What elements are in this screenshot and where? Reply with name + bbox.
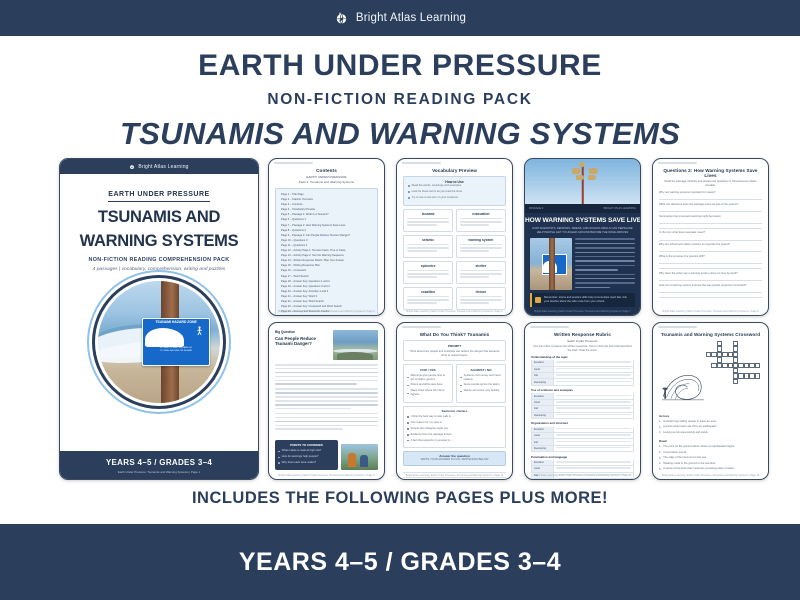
page-footer: Bright Atlas Learning | Earth Under Pres… [269,310,384,313]
list-item: I think the best way to stay safe is ... [407,415,502,419]
rubric-instruction: Use this rubric to assess the written re… [531,345,634,353]
grade-banner: YEARS 4–5 / GRADES 3–4 [0,524,800,600]
think-for-heading: FOR / YES [407,368,449,372]
list-item: 3.The edge of the land next to the sea. [659,456,762,460]
hero-series: EARTH UNDER PRESSURE [0,50,800,82]
bigq-eyebrow: Big Question [275,330,329,334]
list-item: How do warnings help people? [278,455,335,459]
table-row: Developing [531,413,634,419]
list-item: Page 4 – Vocabulary Preview [281,208,372,211]
sign-top-text: TSUNAMI HAZARD ZONE [143,320,209,324]
list-item: What makes a coast at high risk? [278,449,335,453]
thumbnail-big-question[interactable]: Big Question Can People Reduce Tsunami D… [268,322,385,480]
bigq-photo-2 [341,444,378,470]
question-item: What is the purpose of a practice drill? [659,255,762,269]
list-item: Page 12 – Activity Page 1: Tsunami Facts… [281,249,372,252]
cover-brand-name: Bright Atlas Learning [138,164,188,170]
hero-topic: TSUNAMIS AND WARNING SYSTEMS [0,118,800,151]
table-row: Developing [531,446,634,452]
article-note-text: Remember: sirens and practice drills hel… [544,296,632,304]
bigq-title-line2: Tsunami Danger? [275,341,329,346]
list-item: Sirens and drills save lives. [407,383,449,387]
brand-name: Bright Atlas Learning [356,12,466,24]
list-item: Page 11 – Questions 4 [281,244,372,247]
think-prompt: PROMPT Think about how people and scient… [403,340,506,361]
contents-list: Page 1 – Title Page Page 2 – Teacher Ove… [275,188,378,316]
cover-title-line1: TSUNAMIS AND [70,209,248,226]
think-for-box: FOR / YES Warnings give people time to g… [403,364,453,403]
rubric-group: Organisation and structure Excellent Goo… [531,421,634,452]
cover-brand-bar: Bright Atlas Learning [60,159,258,174]
crossword-grid[interactable] [706,341,760,384]
article-note: Remember: sirens and practice drills hel… [530,293,635,306]
vocab-card: shelter [456,261,506,285]
thumbnail-vocabulary-preview[interactable]: Vocabulary Preview How to Use Read the w… [396,158,513,316]
globe-compass-icon [129,164,135,170]
list-item: Page 13 – Activity Page 2: Sort the Warn… [281,254,372,257]
page-footer: Bright Atlas Learning | Earth Under Pres… [525,307,640,316]
page-footer: Bright Atlas Learning | Earth Under Pres… [397,310,512,313]
article-eyebrow-left: PASSAGE 2 [529,207,543,210]
think-prompt-text: Think about how people and scientists ca… [407,350,502,358]
list-item: Look for these terms as you read the tex… [408,190,501,194]
page-gallery: Bright Atlas Learning EARTH UNDER PRESSU… [0,155,800,485]
list-item: Page 17 – Word Search [281,275,372,278]
siren-photo [525,159,640,204]
thumbnail-written-response-rubric[interactable]: Written Response Rubric Earth Under Pres… [524,322,641,480]
list-item: 1.A hazard sign telling people to leave … [659,420,762,424]
article-dek: HOW SCIENTISTS, SENSORS, SIRENS, AND SCH… [531,227,634,235]
list-item: Try to use a new term in your sentence. [408,196,501,200]
list-item: 2.A great ocean wave set off by an earth… [659,425,762,429]
think-against-heading: AGAINST / NO [460,368,502,372]
page-footer: Bright Atlas Learning | Earth Under Pres… [525,474,640,477]
list-item: Page 2 – Teacher Overview [281,198,372,201]
question-item: Why are school and safety routines so im… [659,243,762,252]
list-item: A fact that supports my answer is ... [407,439,502,443]
list-item: Page 8 – Questions 2 [281,229,372,232]
thumbnail-passage-warning-systems[interactable]: PASSAGE 2 BRIGHT ATLAS LEARNING HOW WARN… [524,158,641,316]
crossword-down-heading: Down [659,439,762,443]
think-answer-prompt: WRITE YOUR ANSWER IN FULL SENTENCES BELO… [407,458,502,462]
list-item: Evidence from the passage shows ... [407,433,502,437]
list-item: 5.A series of low lines that measures a … [659,467,762,471]
list-item: Page 3 – Contents [281,203,372,206]
list-item: Page 1 – Title Page [281,193,372,196]
hero-kind: NON-FICTION READING PACK [0,91,800,109]
cover-thumbnail[interactable]: Bright Atlas Learning EARTH UNDER PRESSU… [59,158,259,480]
contents-title: Contents [275,168,378,173]
vocab-card-grid: tsunami evacuation seismic warning syste… [403,209,506,310]
article-headline: HOW WARNING SYSTEMS SAVE LIVES [525,217,640,224]
list-item: Page 20 – Answer Key: Activities 1 and 2 [281,290,372,293]
list-item: 3.Leaving a risk area quickly and safely… [659,431,762,435]
question-item: How can a warning system improve the way… [659,284,762,298]
cover-kind: NON-FICTION READING COMPREHENSION PACK [70,257,248,263]
think-checklist: Sentence starters I think the best way t… [403,406,506,448]
cover-grade-band: YEARS 4–5 / GRADES 3–4 Earth Under Press… [60,451,258,479]
list-item: Some people ignore the alarm. [460,383,502,387]
question-item: Why does the writer say a warning system… [659,272,762,281]
cover-grade-band-text: YEARS 4–5 / GRADES 3–4 [60,458,258,467]
questions-title: Questions 2: How Warning Systems Save Li… [659,168,762,178]
list-item: Maps show where the risk is highest. [407,389,449,397]
list-item: 2.A loud alarm sound. [659,451,762,455]
article-eyebrow-right: BRIGHT ATLAS LEARNING [604,207,636,210]
wave-illustration-icon [661,365,705,405]
list-item: Page 15 – Writing Response Plan [281,264,372,267]
cover-photo-circle: TSUNAMI HAZARD ZONE IN CASE OF EART [95,278,223,406]
list-item: Page 9 – Passage 3: Can People Reduce Ts… [281,234,372,237]
sign-bottom-line2: TO HIGH GROUND OR INLAND [143,350,209,353]
list-item: Page 10 – Questions 3 [281,239,372,242]
list-item: 1.The point on the ground above where an… [659,445,762,449]
question-item: What two detectors does the passage name… [659,203,762,212]
thumbnail-questions-2[interactable]: Questions 2: How Warning Systems Save Li… [652,158,769,316]
table-row: Developing [531,379,634,385]
cover-title-line2: WARNING SYSTEMS [70,233,248,250]
list-item: Systems cost money and need upkeep. [460,374,502,382]
vocab-card: coastline [403,287,453,311]
list-item: Page 22 – Answer Key: Word Search [281,300,372,303]
tsunami-hazard-sign: TSUNAMI HAZARD ZONE IN CASE OF EART [142,318,210,367]
page-footer: Bright Atlas Learning | Earth Under Pres… [269,474,384,477]
list-item: One reason for my view is ... [407,421,502,425]
list-item: Waves can arrive very quickly. [460,389,502,393]
list-item: Page 18 – Answer Key: Questions 1 and 2 [281,280,372,283]
article-eyebrow: PASSAGE 2 BRIGHT ATLAS LEARNING [525,204,640,213]
list-item: Page 16 – Crossword [281,269,372,272]
think-checklist-heading: Sentence starters [407,409,502,413]
vocab-note: How to Use Read the words, meanings and … [403,176,506,206]
list-item: Page 21 – Answer Key: Word 3 [281,295,372,298]
thumbnail-what-do-you-think[interactable]: What Do You Think? Tsunamis PROMPT Think… [396,322,513,480]
cover-description: 4 passages | vocabulary, comprehension, … [70,267,248,272]
cover-series: EARTH UNDER PRESSURE [108,191,209,202]
bigq-points-heading: POINTS TO CONSIDER [278,443,335,447]
contents-subtitle2: Pack 2: Tsunamis and Warning Systems [275,180,378,184]
think-answer-bar: Answer the question WRITE YOUR ANSWER IN… [403,451,506,466]
list-item: Page 23 – Answer Key: Crossword and Word… [281,305,372,308]
rubric-group: Understanding of the topic Excellent Goo… [531,355,634,386]
question-item: Why are warning systems important for co… [659,191,762,200]
page-footer: Bright Atlas Learning | Earth Under Pres… [397,474,512,477]
grade-banner-text: YEARS 4–5 / GRADES 3–4 [239,548,561,577]
table-row: Developing [531,479,634,480]
question-item: Summarise how a tsunami warning might be… [659,215,762,229]
thumbnail-crossword[interactable]: Tsunamis and Warning Systems Crossword [652,322,769,480]
list-item: Page 5 – Passage 1: What Is a Tsunami? [281,213,372,216]
list-item: Page 6 – Questions 1 [281,218,372,221]
vocab-card: tremor [456,287,506,311]
thumbnail-contents[interactable]: Contents EARTH UNDER PRESSURE Pack 2: Ts… [268,158,385,316]
globe-compass-icon [334,11,349,26]
vocab-card: evacuation [456,209,506,232]
list-item: Page 14 – Written Response Rubric: Plan … [281,259,372,262]
contents-subtitle: EARTH UNDER PRESSURE [275,175,378,179]
rubric-group: Use of evidence and examples Excellent G… [531,388,634,419]
running-figure-icon [197,326,202,336]
brand-bar: Bright Atlas Learning [0,0,800,36]
vocab-card: warning system [456,235,506,258]
question-item: In the text, what does evacuate mean? [659,231,762,240]
vocab-card: seismic [403,235,453,258]
think-prompt-heading: PROMPT [407,344,502,348]
list-item: Page 7 – Passage 2: How Warning Systems … [281,224,372,227]
questions-instruction: Read the passage carefully and answer th… [659,180,762,188]
vocab-title: Vocabulary Preview [403,168,506,173]
note-icon [535,297,541,303]
hero: EARTH UNDER PRESSURE NON-FICTION READING… [0,36,800,150]
list-item: 4.Shaking made in the ground or the sea … [659,462,762,466]
list-item: Why does each area matter? [278,461,335,465]
list-item: Warnings give people time to get to high… [407,374,449,382]
crossword-across-heading: Across [659,414,762,418]
rubric-title: Written Response Rubric [531,332,634,337]
includes-banner: INCLUDES THE FOLLOWING PAGES PLUS MORE! [0,489,800,508]
page-footer: Bright Atlas Learning | Earth Under Pres… [653,474,768,477]
think-title: What Do You Think? Tsunamis [403,332,506,337]
promo-page: Bright Atlas Learning EARTH UNDER PRESSU… [0,0,800,600]
think-against-box: AGAINST / NO Systems cost money and need… [456,364,506,403]
list-item: Read the words, meanings and examples. [408,184,501,188]
rubric-subtitle: Earth Under Pressure [531,339,634,343]
crossword-title: Tsunamis and Warning Systems Crossword [659,332,762,337]
vocab-card: epicentre [403,261,453,285]
article-inset-photo [530,238,572,290]
cover-footer: Earth Under Pressure: Tsunamis and Warni… [60,470,258,476]
thumbnail-grid: Contents EARTH UNDER PRESSURE Pack 2: Ts… [268,158,768,480]
bigq-photo [333,330,378,360]
list-item: Page 19 – Answer Key: Questions 3 and 4 [281,285,372,288]
page-footer: Bright Atlas Learning | Earth Under Pres… [653,310,768,313]
vocab-card: tsunami [403,209,453,232]
list-item: People who disagree might say ... [407,427,502,431]
